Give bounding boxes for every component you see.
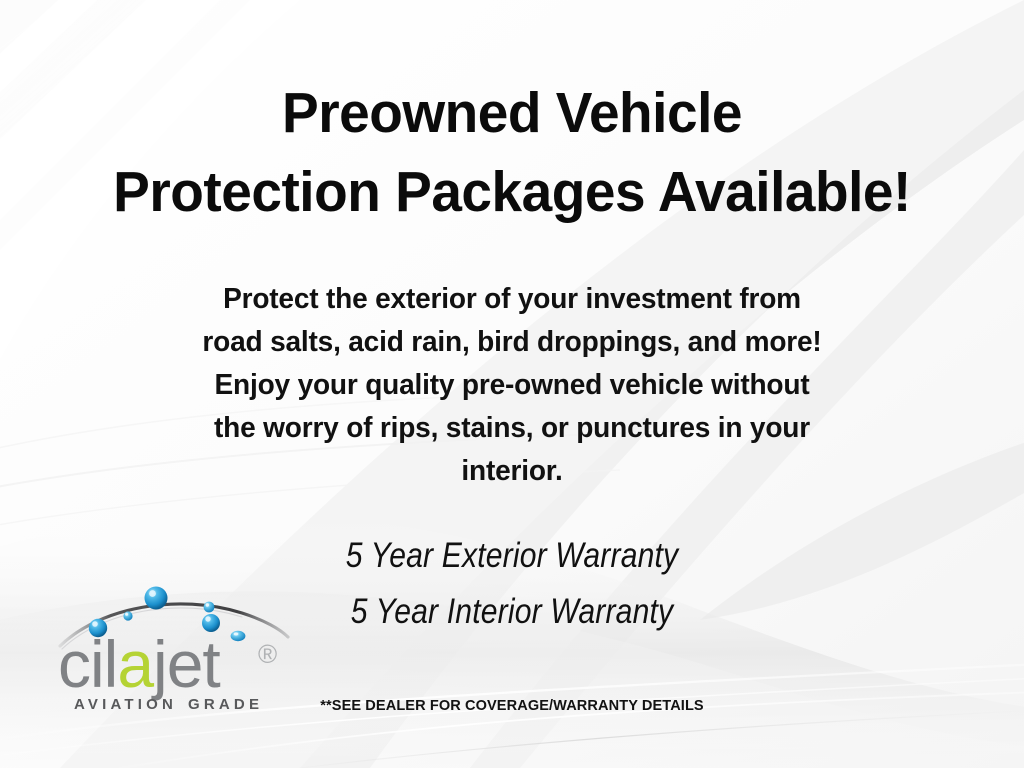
bubble-flat-right — [231, 631, 246, 641]
logo-wordmark-part1: cil — [58, 627, 117, 701]
cilajet-logo-graphic: cilajet ® AVIATION GRADE — [56, 583, 292, 715]
logo-wordmark-highlight: a — [117, 627, 154, 701]
bubble-highlight — [125, 613, 128, 616]
body-line-1: Protect the exterior of your investment … — [8, 278, 1017, 321]
logo-tagline-right: GRADE — [188, 696, 263, 713]
headline-line-2: Protection Packages Available! — [18, 153, 1006, 232]
registered-trademark-icon: ® — [258, 639, 277, 669]
bubble-highlight — [206, 603, 209, 606]
body-line-5: interior. — [8, 450, 1017, 493]
logo-wordmark-part2: jet — [151, 627, 220, 701]
bubble-highlight — [92, 621, 98, 627]
cilajet-logo: cilajet ® AVIATION GRADE — [56, 583, 292, 715]
warranty-exterior: 5 Year Exterior Warranty — [72, 528, 953, 584]
slide-canvas: Preowned Vehicle Protection Packages Ava… — [0, 0, 1024, 768]
bubble-small-upper-right — [204, 602, 215, 613]
headline-line-1: Preowned Vehicle — [18, 74, 1006, 153]
logo-wordmark: cilajet — [58, 627, 220, 701]
bubble-highlight — [205, 616, 210, 621]
body-paragraph: Protect the exterior of your investment … — [8, 278, 1017, 493]
slide-content: Preowned Vehicle Protection Packages Ava… — [0, 0, 1024, 768]
bubble-tiny-center — [123, 611, 132, 620]
bubble-highlight — [149, 590, 156, 597]
body-line-2: road salts, acid rain, bird droppings, a… — [8, 321, 1017, 364]
bubble-large-center — [145, 587, 168, 610]
logo-tagline-left: AVIATION — [74, 696, 177, 713]
page-title: Preowned Vehicle Protection Packages Ava… — [18, 74, 1006, 232]
body-line-4: the worry of rips, stains, or punctures … — [8, 407, 1017, 450]
body-line-3: Enjoy your quality pre-owned vehicle wit… — [8, 364, 1017, 407]
bubble-highlight — [234, 633, 239, 636]
